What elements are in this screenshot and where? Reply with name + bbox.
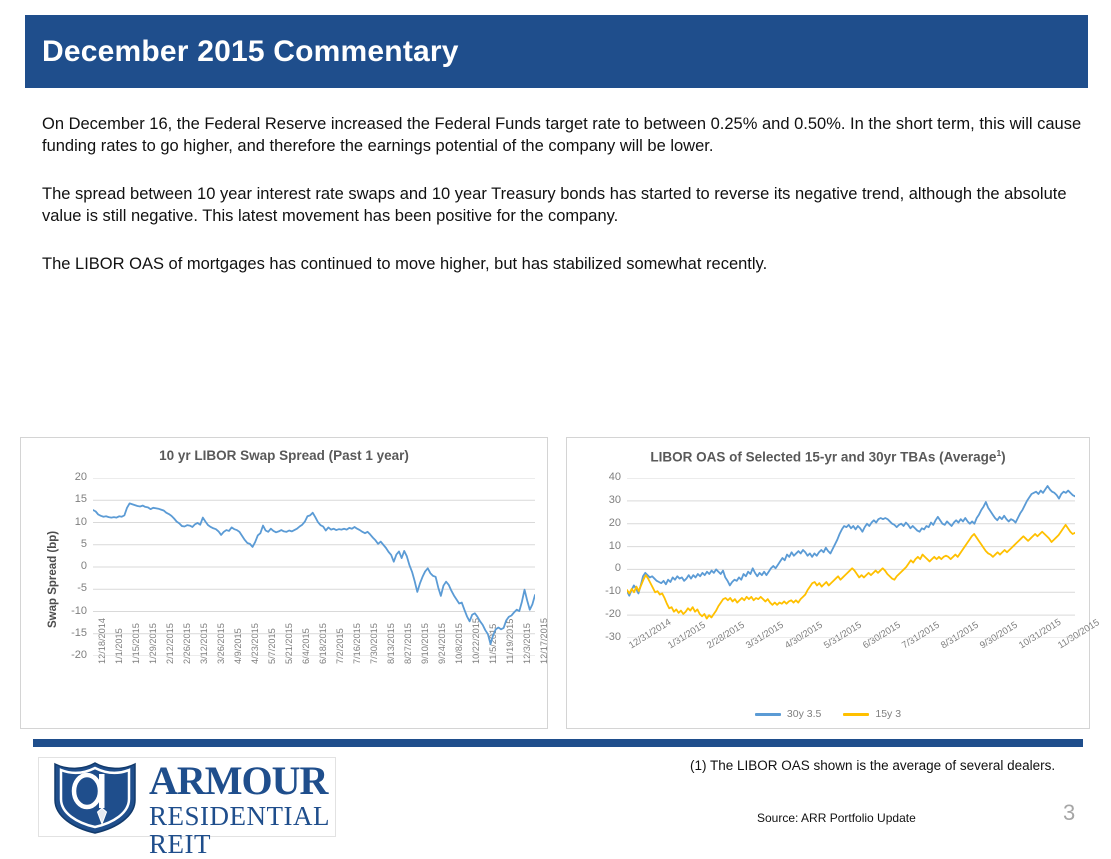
y-tick-label: 0 <box>53 560 87 572</box>
logo-wordmark: ARMOUR RESIDENTIAL REIT <box>149 760 335 858</box>
y-tick-label: -20 <box>53 649 87 661</box>
y-tick-label: 20 <box>587 517 621 529</box>
y-tick-label: 20 <box>53 471 87 483</box>
y-tick-label: -10 <box>53 605 87 617</box>
chart-panel-libor-oas: LIBOR OAS of Selected 15-yr and 30yr TBA… <box>566 437 1090 729</box>
y-tick-label: 30 <box>587 494 621 506</box>
y-tick-label: 10 <box>53 516 87 528</box>
legend-swatch <box>843 713 869 716</box>
y-tick-label: -5 <box>53 582 87 594</box>
footnote-libor-oas: (1) The LIBOR OAS shown is the average o… <box>690 758 1055 773</box>
y-tick-label: -10 <box>587 585 621 597</box>
legend-item-30y: 30y 3.5 <box>755 708 821 720</box>
chart-panel-swap-spread: 10 yr LIBOR Swap Spread (Past 1 year) Sw… <box>20 437 548 729</box>
shield-icon <box>49 760 141 834</box>
x-tick-label: 12/17/2015 <box>539 618 549 664</box>
legend-item-15y: 15y 3 <box>843 708 901 720</box>
y-tick-label: 15 <box>53 493 87 505</box>
chart-legend: 30y 3.515y 3 <box>567 708 1089 720</box>
chart-title-tail: ) <box>1001 450 1006 465</box>
armour-logo: ARMOUR RESIDENTIAL REIT <box>38 757 336 837</box>
footer-divider <box>33 739 1083 747</box>
page-number: 3 <box>1063 800 1075 826</box>
y-tick-label: 0 <box>587 562 621 574</box>
y-tick-label: 5 <box>53 538 87 550</box>
logo-line-armour: ARMOUR <box>149 760 335 802</box>
chart-title-text: LIBOR OAS of Selected 15-yr and 30yr TBA… <box>650 450 996 465</box>
y-tick-label: 40 <box>587 471 621 483</box>
page-title: December 2015 Commentary <box>42 35 459 69</box>
y-tick-label: -20 <box>587 608 621 620</box>
commentary-paragraph-3: The LIBOR OAS of mortgages has continued… <box>42 254 1088 276</box>
y-tick-label: -15 <box>53 627 87 639</box>
commentary-paragraph-1: On December 16, the Federal Reserve incr… <box>42 114 1088 158</box>
legend-swatch <box>755 713 781 716</box>
logo-line-residential-reit: RESIDENTIAL REIT <box>149 802 335 858</box>
chart-title-libor-oas: LIBOR OAS of Selected 15-yr and 30yr TBA… <box>567 448 1089 465</box>
source-note: Source: ARR Portfolio Update <box>757 811 916 825</box>
chart-title-swap-spread: 10 yr LIBOR Swap Spread (Past 1 year) <box>21 448 547 463</box>
legend-label: 15y 3 <box>875 708 901 720</box>
y-tick-label: -30 <box>587 631 621 643</box>
chart-plot-area-swap-spread <box>93 478 535 656</box>
chart-plot-area-libor-oas <box>627 478 1075 638</box>
y-tick-label: 10 <box>587 540 621 552</box>
commentary-paragraph-2: The spread between 10 year interest rate… <box>42 184 1088 228</box>
charts-row: 10 yr LIBOR Swap Spread (Past 1 year) Sw… <box>20 437 1090 729</box>
legend-label: 30y 3.5 <box>787 708 821 720</box>
commentary-body: On December 16, the Federal Reserve incr… <box>42 114 1088 302</box>
